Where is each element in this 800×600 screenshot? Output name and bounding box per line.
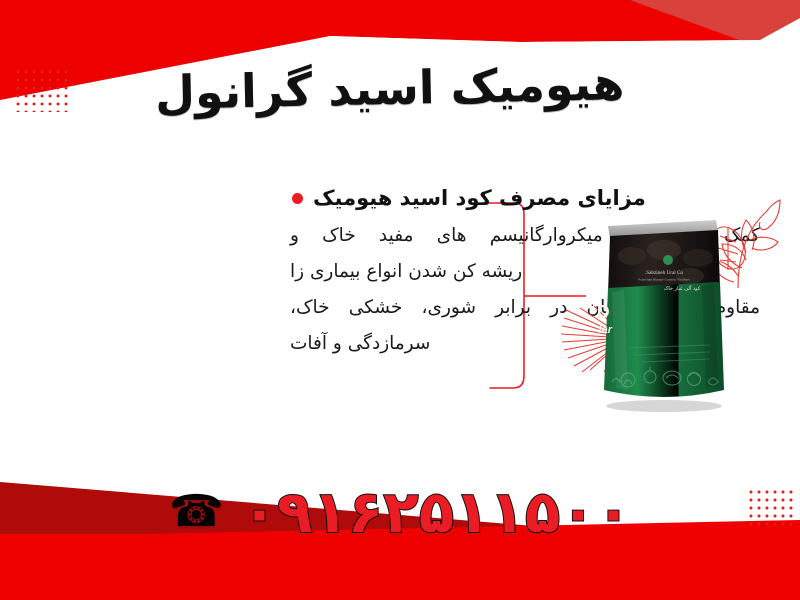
red-dot-icon [292,193,303,204]
header-shape-right-light [630,0,800,44]
svg-text:HUMIC ACID: HUMIC ACID [598,301,610,322]
product-bag: Sabzineh Ural Co. Potassium Humate Granu… [598,214,728,412]
page-title: هیومیک اسید گرانول [155,55,626,122]
contact-row: ☎ ۰۹۱۶۲۵۱۱۵۰۰ [0,472,800,552]
product-image: Sabzineh Ural Co. Potassium Humate Granu… [560,196,790,431]
poster-canvas: هیومیک اسید گرانول مزایای مصرف کود اسید … [0,0,800,600]
svg-text:Granular: Granular [598,324,613,336]
title-container: هیومیک اسید گرانول [0,60,800,118]
telephone-icon: ☎ [169,490,224,534]
svg-text:Sabzineh Ural Co.: Sabzineh Ural Co. [645,270,684,276]
svg-text:کود آلی غبار خاک: کود آلی غبار خاک [664,285,701,292]
phone-number[interactable]: ۰۹۱۶۲۵۱۱۵۰۰ [242,478,631,546]
svg-text:Potassium Humate Granular Fert: Potassium Humate Granular Fertilizer [638,278,691,282]
